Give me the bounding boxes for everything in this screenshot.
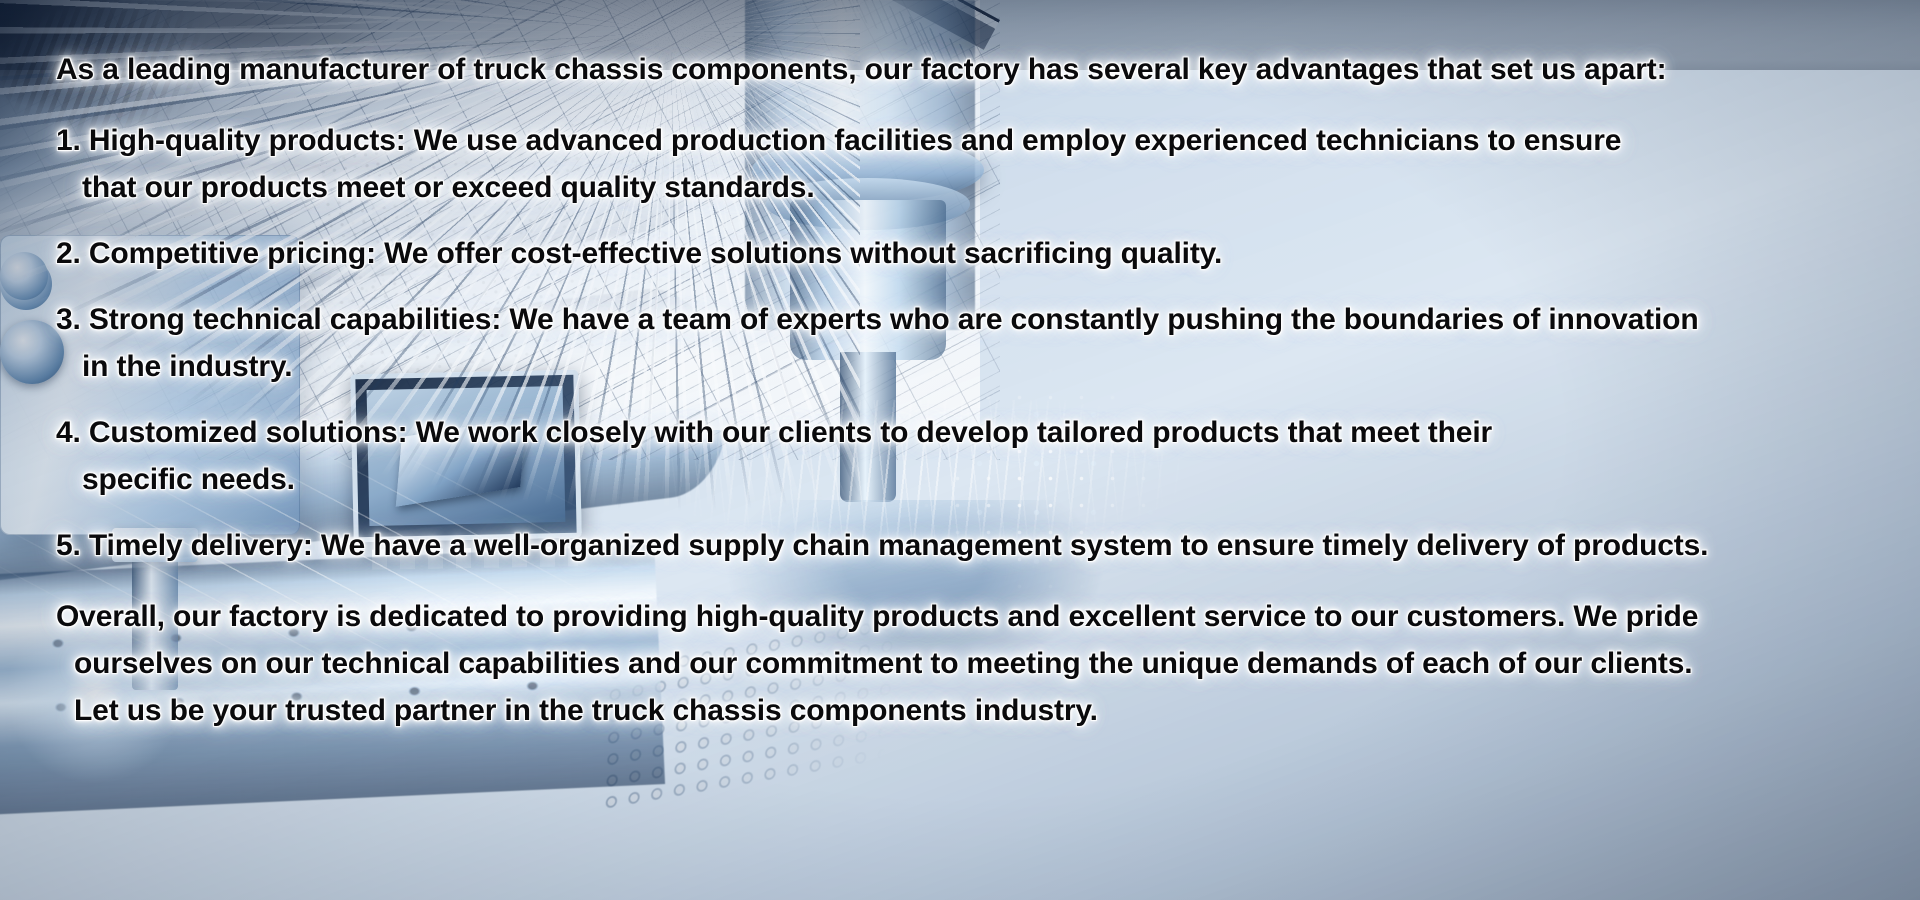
point-1-line-1: 1. High-quality products: We use advance…	[56, 117, 1890, 164]
spacer	[56, 503, 1890, 522]
advantage-point-1: 1. High-quality products: We use advance…	[56, 117, 1890, 211]
point-3-line-1: 3. Strong technical capabilities: We hav…	[56, 296, 1890, 343]
point-3-line-2: in the industry.	[56, 343, 1890, 390]
banner-copy: As a leading manufacturer of truck chass…	[0, 0, 1920, 900]
point-1-line-2: that our products meet or exceed quality…	[56, 164, 1890, 211]
spacer	[56, 211, 1890, 230]
point-4-line-2: specific needs.	[56, 456, 1890, 503]
point-5-line-1: 5. Timely delivery: We have a well-organ…	[56, 522, 1890, 569]
point-4-line-1: 4. Customized solutions: We work closely…	[56, 409, 1890, 456]
point-2-line-1: 2. Competitive pricing: We offer cost-ef…	[56, 230, 1890, 277]
advantage-point-4: 4. Customized solutions: We work closely…	[56, 409, 1890, 503]
closing-paragraph: Overall, our factory is dedicated to pro…	[56, 593, 1890, 734]
promotional-banner: As a leading manufacturer of truck chass…	[0, 0, 1920, 900]
advantage-point-3: 3. Strong technical capabilities: We hav…	[56, 296, 1890, 390]
advantage-point-5: 5. Timely delivery: We have a well-organ…	[56, 522, 1890, 569]
spacer	[56, 569, 1890, 593]
spacer	[56, 93, 1890, 117]
intro-paragraph: As a leading manufacturer of truck chass…	[56, 46, 1890, 93]
closing-line-3: Let us be your trusted partner in the tr…	[56, 687, 1890, 734]
closing-line-2: ourselves on our technical capabilities …	[56, 640, 1890, 687]
intro-line: As a leading manufacturer of truck chass…	[56, 46, 1890, 93]
spacer	[56, 277, 1890, 296]
closing-line-1: Overall, our factory is dedicated to pro…	[56, 593, 1890, 640]
spacer	[56, 390, 1890, 409]
advantage-point-2: 2. Competitive pricing: We offer cost-ef…	[56, 230, 1890, 277]
